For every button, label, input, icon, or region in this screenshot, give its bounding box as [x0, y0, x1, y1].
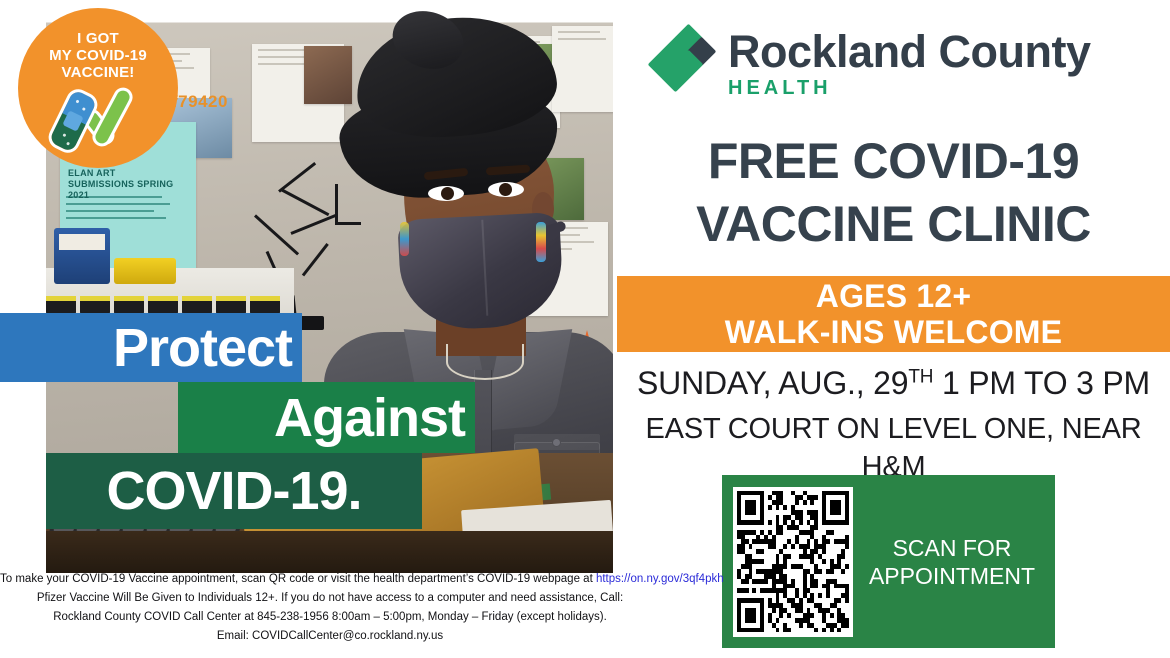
logo-subtitle: HEALTH	[728, 77, 1091, 100]
footer-line-3: Rockland County COVID Call Center at 845…	[0, 608, 660, 627]
eligibility-line-1: AGES 12+	[816, 278, 971, 314]
scan-label-line-2: APPOINTMENT	[859, 562, 1045, 590]
eligibility-banner: AGES 12+ WALK-INS WELCOME	[617, 276, 1170, 352]
scan-label: SCAN FOR APPOINTMENT	[853, 534, 1055, 590]
event-date-ordinal: TH	[908, 366, 933, 387]
desk-front	[46, 531, 613, 573]
event-time: 1 PM TO 3 PM	[933, 365, 1150, 401]
rockland-county-health-logo: Rockland County HEALTH	[652, 28, 1091, 100]
pupil-right	[499, 183, 512, 196]
footer-line-4: Email: COVIDCallCenter@co.rockland.ny.us	[0, 627, 660, 646]
promo-bar-covid: COVID-19.	[46, 453, 422, 529]
necklace	[446, 344, 524, 380]
badge-line-3: VACCINE!	[62, 64, 135, 81]
diamond-logo-icon	[652, 28, 714, 96]
right-column: Rockland County HEALTH FREE COVID-19 VAC…	[617, 0, 1170, 658]
promo-text-covid: COVID-19.	[106, 460, 361, 522]
footer-line-1: To make your COVID-19 Vaccine appointmen…	[0, 570, 660, 589]
promo-text-protect: Protect	[113, 317, 292, 379]
eligibility-line-2: WALK-INS WELCOME	[725, 314, 1062, 350]
logo-wordmark: Rockland County HEALTH	[728, 28, 1091, 100]
promo-text-against: Against	[274, 387, 465, 449]
logo-title: Rockland County	[728, 28, 1091, 76]
footer-fine-print: To make your COVID-19 Vaccine appointmen…	[0, 570, 660, 646]
footer-line-2: Pfizer Vaccine Will Be Given to Individu…	[0, 589, 660, 608]
promo-bar-against: Against	[178, 382, 475, 453]
page-title: FREE COVID-19 VACCINE CLINIC	[617, 130, 1170, 256]
earring-left	[400, 222, 409, 256]
event-date-prefix: SUNDAY, AUG., 29	[637, 365, 908, 401]
promo-bar-protect: Protect	[0, 313, 302, 382]
badge-line-2: MY COVID-19	[49, 47, 147, 64]
headline-line-1: FREE COVID-19	[617, 130, 1170, 193]
appointment-url-link[interactable]: https://on.ny.gov/3qf4pkh	[596, 573, 724, 585]
flyer-canvas: f79420 ELAN ART SUBMISSIONS SPRING 2021	[0, 0, 1170, 658]
tool-row	[46, 288, 296, 314]
scan-for-appointment-panel[interactable]: SCAN FOR APPOINTMENT	[722, 475, 1055, 648]
supply-bin	[54, 228, 110, 284]
shirt-button	[552, 438, 561, 447]
i-got-my-vaccine-badge: I GOT MY COVID-19 VACCINE!	[18, 8, 178, 168]
footer-line-1-text: To make your COVID-19 Vaccine appointmen…	[0, 573, 596, 585]
qr-code-icon[interactable]	[737, 491, 849, 633]
badge-line-1: I GOT	[77, 30, 119, 47]
scan-label-line-1: SCAN FOR	[859, 534, 1045, 562]
earring-right	[536, 222, 546, 262]
poster-title: ELAN ART SUBMISSIONS SPRING 2021	[68, 168, 178, 201]
photo-wall-code: f79420	[172, 92, 228, 112]
event-datetime: SUNDAY, AUG., 29TH 1 PM TO 3 PM	[617, 362, 1170, 404]
checkmark-icon	[86, 88, 142, 148]
qr-code-container[interactable]	[733, 487, 853, 637]
headline-line-2: VACCINE CLINIC	[617, 193, 1170, 256]
supply-tray	[114, 258, 176, 284]
pupil-left	[441, 187, 454, 200]
badge-artwork	[52, 88, 144, 148]
